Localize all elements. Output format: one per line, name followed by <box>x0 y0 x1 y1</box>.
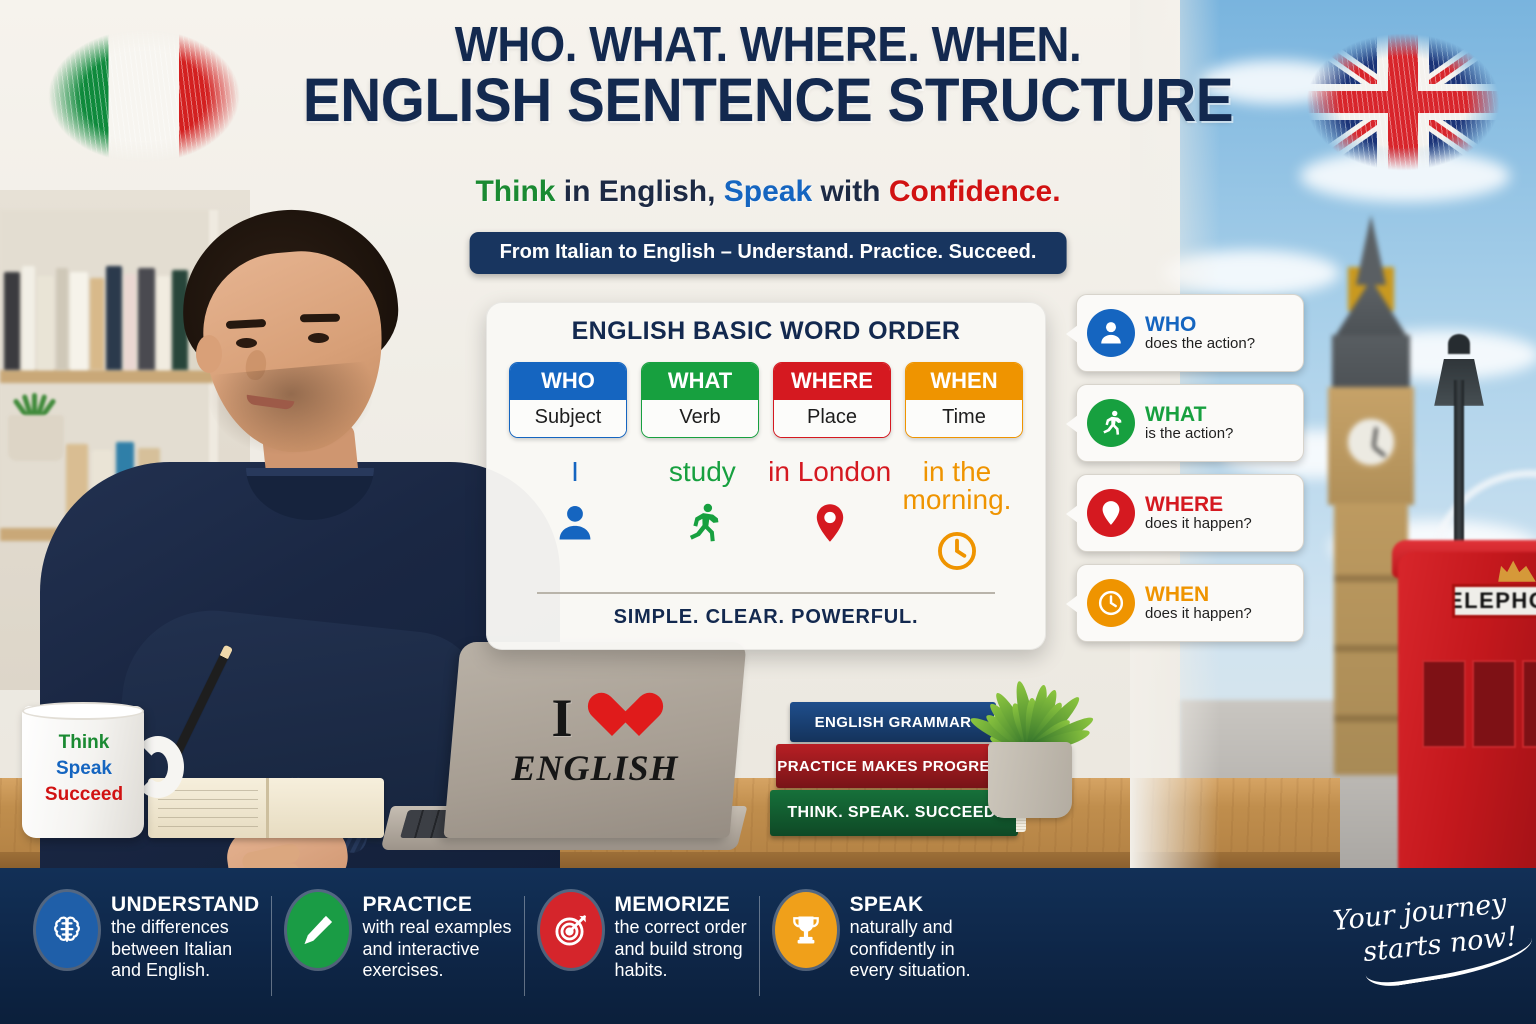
sentence-word: I <box>513 458 637 486</box>
word-order-chips: WHOSubjectWHATVerbWHEREPlaceWHENTime <box>509 362 1023 438</box>
book-title: PRACTICE MAKES PROGRESS <box>777 758 1010 775</box>
chip-label: WHERE <box>774 363 890 400</box>
brain-icon <box>36 892 98 968</box>
subtitle-part-2: Speak <box>724 175 812 208</box>
location-pin-icon <box>768 498 892 548</box>
subtitle-part-0: Think <box>475 175 555 208</box>
sentence-part-1: study <box>640 458 764 576</box>
person-icon <box>513 498 637 548</box>
feature-line: confidently in <box>850 939 971 961</box>
clock-icon <box>1087 579 1135 627</box>
callout-what[interactable]: WHATis the action? <box>1076 384 1304 462</box>
callout-subtitle: is the action? <box>1145 426 1233 443</box>
book-title: THINK. SPEAK. SUCCEED. <box>787 804 1000 822</box>
sentence-part-3: in the morning. <box>895 458 1019 576</box>
desk-plant-leaves <box>966 640 1096 750</box>
subtitle-part-3: with <box>812 175 889 208</box>
notebook <box>148 778 384 838</box>
running-icon <box>1087 399 1135 447</box>
location-pin-icon <box>1087 489 1135 537</box>
feature-line: and interactive <box>362 939 511 961</box>
person-icon <box>1087 309 1135 357</box>
word-order-chip-where[interactable]: WHEREPlace <box>773 362 891 438</box>
chip-label: WHAT <box>642 363 758 400</box>
book-1: PRACTICE MAKES PROGRESS <box>776 744 1012 788</box>
sentence-word: study <box>640 458 764 486</box>
phone-box-pane <box>1472 660 1516 748</box>
mug-line-0: Think <box>38 730 130 756</box>
subtitle: Think in English, Speak with Confidence. <box>0 175 1536 209</box>
feature-line: habits. <box>615 960 747 982</box>
subtitle-part-1: in English, <box>555 175 723 208</box>
journey-tagline: Your journey starts now! <box>1324 882 1519 973</box>
feature-line: with real examples <box>362 917 511 939</box>
title-line-2: ENGLISH SENTENCE STRUCTURE <box>54 71 1482 130</box>
sentence-word: in the morning. <box>895 458 1019 514</box>
feature-title: SPEAK <box>850 892 971 917</box>
example-sentence: Istudyin Londonin the morning. <box>509 458 1023 576</box>
callout-where[interactable]: WHEREdoes it happen? <box>1076 474 1304 552</box>
feature-practice[interactable]: PRACTICEwith real examplesand interactiv… <box>273 892 525 982</box>
laptop-i-letter: I <box>551 691 572 745</box>
ribbon-banner: From Italian to English – Understand. Pr… <box>470 232 1067 274</box>
page-title: WHO. WHAT. WHERE. WHEN. ENGLISH SENTENCE… <box>0 22 1536 130</box>
feature-line: every situation. <box>850 960 971 982</box>
feature-line: between Italian <box>111 939 259 961</box>
word-order-chip-what[interactable]: WHATVerb <box>641 362 759 438</box>
mug-line-2: Succeed <box>38 782 130 808</box>
callout-who[interactable]: WHOdoes the action? <box>1076 294 1304 372</box>
callout-title: WHAT <box>1145 403 1233 427</box>
callout-title: WHO <box>1145 313 1255 337</box>
book-2: THINK. SPEAK. SUCCEED. <box>770 790 1018 836</box>
word-order-chip-when[interactable]: WHENTime <box>905 362 1023 438</box>
feature-line: the differences <box>111 917 259 939</box>
callout-when[interactable]: WHENdoes it happen? <box>1076 564 1304 642</box>
chip-sublabel: Verb <box>642 400 758 437</box>
mug-rim <box>22 702 144 720</box>
desk-plant-pot <box>988 742 1072 818</box>
chip-label: WHEN <box>906 363 1022 400</box>
mug-text: ThinkSpeakSucceed <box>38 730 130 809</box>
feature-title: PRACTICE <box>362 892 511 917</box>
callout-subtitle: does it happen? <box>1145 516 1252 533</box>
feature-line: the correct order <box>615 917 747 939</box>
feature-line: and English. <box>111 960 259 982</box>
feature-title: MEMORIZE <box>615 892 747 917</box>
feature-memorize[interactable]: MEMORIZEthe correct orderand build stron… <box>526 892 761 982</box>
callout-title: WHEN <box>1145 583 1252 607</box>
title-line-1: WHO. WHAT. WHERE. WHEN. <box>54 22 1482 69</box>
callout-subtitle: does the action? <box>1145 336 1255 353</box>
clock-icon <box>895 526 1019 576</box>
sentence-part-0: I <box>513 458 637 576</box>
bottom-feature-bar: UNDERSTANDthe differencesbetween Italian… <box>0 868 1536 1024</box>
divider <box>537 592 995 594</box>
card-tagline: SIMPLE. CLEAR. POWERFUL. <box>509 606 1023 629</box>
feature-line: naturally and <box>850 917 971 939</box>
feature-line: and build strong <box>615 939 747 961</box>
chip-sublabel: Subject <box>510 400 626 437</box>
chip-sublabel: Place <box>774 400 890 437</box>
word-order-card: ENGLISH BASIC WORD ORDER WHOSubjectWHATV… <box>486 302 1046 650</box>
feature-speak[interactable]: SPEAKnaturally andconfidently inevery si… <box>761 892 985 982</box>
target-icon <box>540 892 602 968</box>
heart-icon <box>587 694 639 742</box>
running-icon <box>640 498 764 548</box>
street-lamp-cap <box>1448 334 1470 354</box>
shelf-plant-pot <box>8 415 64 461</box>
sentence-part-2: in London <box>768 458 892 576</box>
feature-title: UNDERSTAND <box>111 892 259 917</box>
mug-line-1: Speak <box>38 756 130 782</box>
sentence-word: in London <box>768 458 892 486</box>
word-order-chip-who[interactable]: WHOSubject <box>509 362 627 438</box>
phone-box-pane <box>1422 660 1466 748</box>
telephone-sign: TELEPHONE <box>1452 584 1536 618</box>
poster-canvas: TELEPHONE ThinkSpeakSucceed <box>0 0 1536 1024</box>
chip-label: WHO <box>510 363 626 400</box>
telephone-sign-label: TELEPHONE <box>1452 588 1536 614</box>
phone-box-pane <box>1522 660 1536 748</box>
card-heading: ENGLISH BASIC WORD ORDER <box>509 317 1023 346</box>
subtitle-part-4: Confidence. <box>889 175 1061 208</box>
feature-line: exercises. <box>362 960 511 982</box>
trophy-icon <box>775 892 837 968</box>
chip-sublabel: Time <box>906 400 1022 437</box>
feature-understand[interactable]: UNDERSTANDthe differencesbetween Italian… <box>22 892 273 982</box>
laptop-english-word: ENGLISH <box>511 747 678 789</box>
question-callouts: WHOdoes the action?WHATis the action?WHE… <box>1076 294 1304 654</box>
callout-subtitle: does it happen? <box>1145 606 1252 623</box>
book-title: ENGLISH GRAMMAR <box>815 714 972 731</box>
callout-title: WHERE <box>1145 493 1252 517</box>
pencil-icon <box>287 892 349 968</box>
laptop-lid: I ENGLISH <box>443 642 746 838</box>
